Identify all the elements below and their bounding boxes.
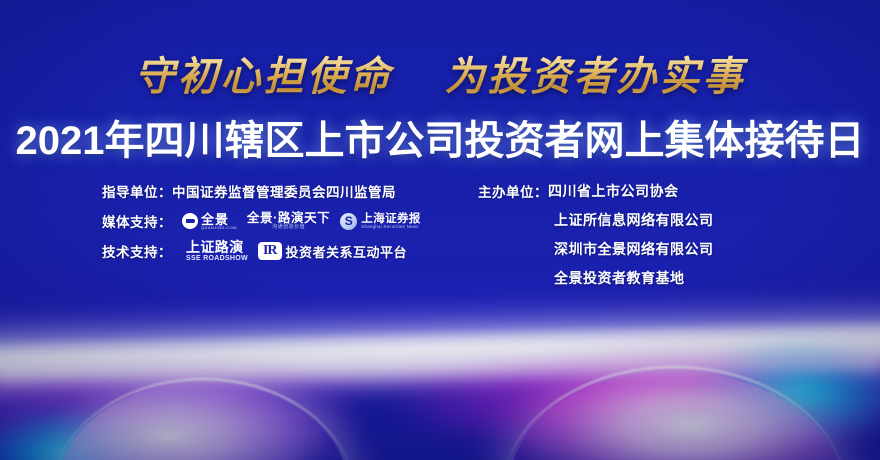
quanjing-logo[interactable]: 全景 QUANJING.COM (182, 208, 237, 234)
organizer-row-1: 上证所信息网络有限公司 (478, 205, 778, 234)
shanghai-securities-news-mark-icon (340, 213, 357, 230)
credits-right-column: 主办单位： 四川省上市公司协会 上证所信息网络有限公司 深圳市全景网络有限公司 … (478, 176, 778, 292)
quanjing-mark-icon (182, 213, 198, 229)
calligraphy-slogan-part1: 守初心担使命 (135, 53, 393, 100)
shanghai-securities-news-logo[interactable]: 上海证券报 Shanghai Securities News (340, 208, 421, 234)
guidance-row: 指导单位： 中国证券监督管理委员会四川监管局 (102, 176, 452, 206)
ir-platform-logo[interactable]: IR 投资者关系互动平台 (258, 238, 407, 264)
page-title: 2021年四川辖区上市公司投资者网上集体接待日 (0, 108, 880, 166)
organizer-value-0: 四川省上市公司协会 (548, 181, 679, 201)
sse-roadshow-logo-sub: SSE ROADSHOW (186, 255, 248, 263)
credits-left-column: 指导单位： 中国证券监督管理委员会四川监管局 媒体支持： 全景 QUANJING… (102, 176, 452, 292)
credits-block: 指导单位： 中国证券监督管理委员会四川监管局 媒体支持： 全景 QUANJING… (0, 176, 880, 292)
organizer-label: 主办单位： (478, 181, 548, 201)
sse-roadshow-logo-text: 上证路演 (186, 240, 248, 255)
organizer-value-2: 深圳市全景网络有限公司 (554, 239, 714, 259)
ir-platform-label: 投资者关系互动平台 (286, 242, 408, 261)
ir-badge-icon: IR (258, 242, 282, 260)
luyan-tianxia-logo-sub: 沟通创造价值 (272, 225, 305, 230)
tech-support-label: 技术支持： (102, 241, 172, 261)
calligraphy-slogan-part2: 为投资者办实事 (444, 53, 745, 100)
media-support-label: 媒体支持： (102, 211, 172, 231)
organizer-row-0: 主办单位： 四川省上市公司协会 (478, 176, 778, 205)
quanjing-logo-sub: QUANJING.COM (201, 226, 237, 230)
luyan-tianxia-logo-text: 全景·路演天下 (247, 212, 330, 225)
shanghai-securities-news-logo-sub: Shanghai Securities News (361, 225, 421, 230)
shanghai-securities-news-logo-text: 上海证券报 (361, 213, 421, 225)
luyan-tianxia-logo[interactable]: 全景·路演天下 沟通创造价值 (247, 208, 330, 234)
organizer-value-3: 全景投资者教育基地 (554, 268, 685, 288)
event-poster: 守初心担使命 为投资者办实事 2021年四川辖区上市公司投资者网上集体接待日 指… (0, 0, 880, 460)
sse-roadshow-logo[interactable]: 上证路演 SSE ROADSHOW (182, 238, 248, 264)
guidance-label: 指导单位： (102, 181, 172, 201)
organizer-row-2: 深圳市全景网络有限公司 (478, 234, 778, 263)
media-support-row: 媒体支持： 全景 QUANJING.COM 全景·路演天下 沟通创造价值 (102, 206, 452, 236)
tech-support-row: 技术支持： 上证路演 SSE ROADSHOW IR 投资者关系互动平台 (102, 236, 452, 266)
guidance-value: 中国证券监督管理委员会四川监管局 (172, 181, 396, 201)
calligraphy-slogan: 守初心担使命 为投资者办实事 (0, 44, 880, 102)
quanjing-logo-text: 全景 (201, 213, 237, 226)
organizer-row-3: 全景投资者教育基地 (478, 263, 778, 292)
organizer-value-1: 上证所信息网络有限公司 (554, 210, 714, 230)
